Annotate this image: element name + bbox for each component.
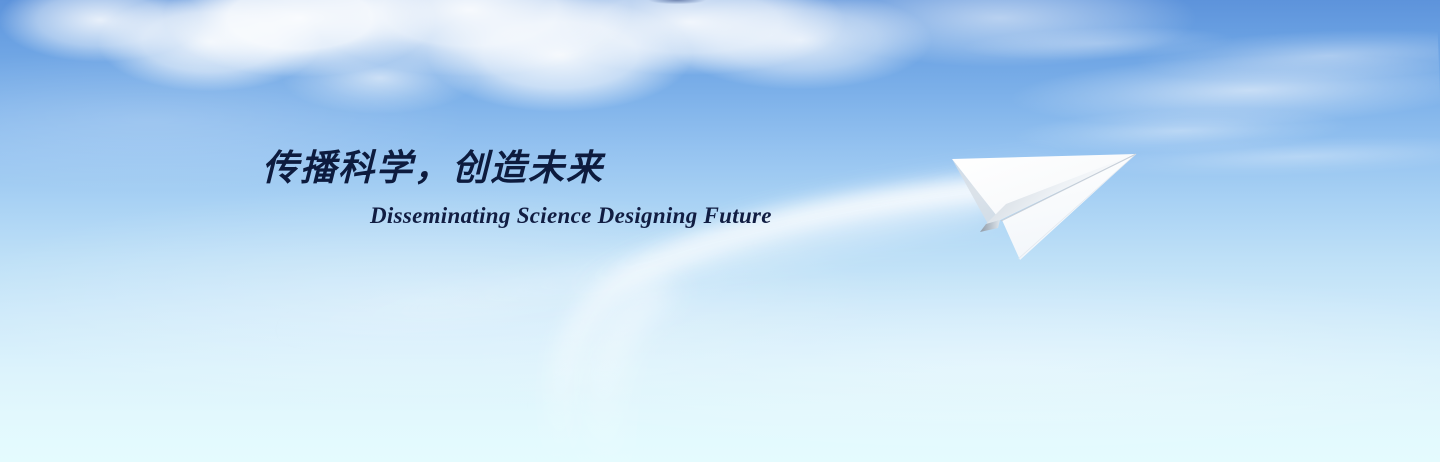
contrail-trail [0,0,1440,462]
cloud-shapes-top [0,0,1440,462]
cropped-mark-top [646,0,708,5]
headline-english: Disseminating Science Designing Future [370,203,1022,228]
cloud-shapes-haze [0,0,1440,462]
cloud-shapes-cirrus [0,0,1440,462]
headline-chinese: 传播科学，创造未来 [262,148,1022,189]
headline-block: 传播科学，创造未来 Disseminating Science Designin… [262,148,1022,229]
hero-banner: 传播科学，创造未来 Disseminating Science Designin… [0,0,1440,462]
